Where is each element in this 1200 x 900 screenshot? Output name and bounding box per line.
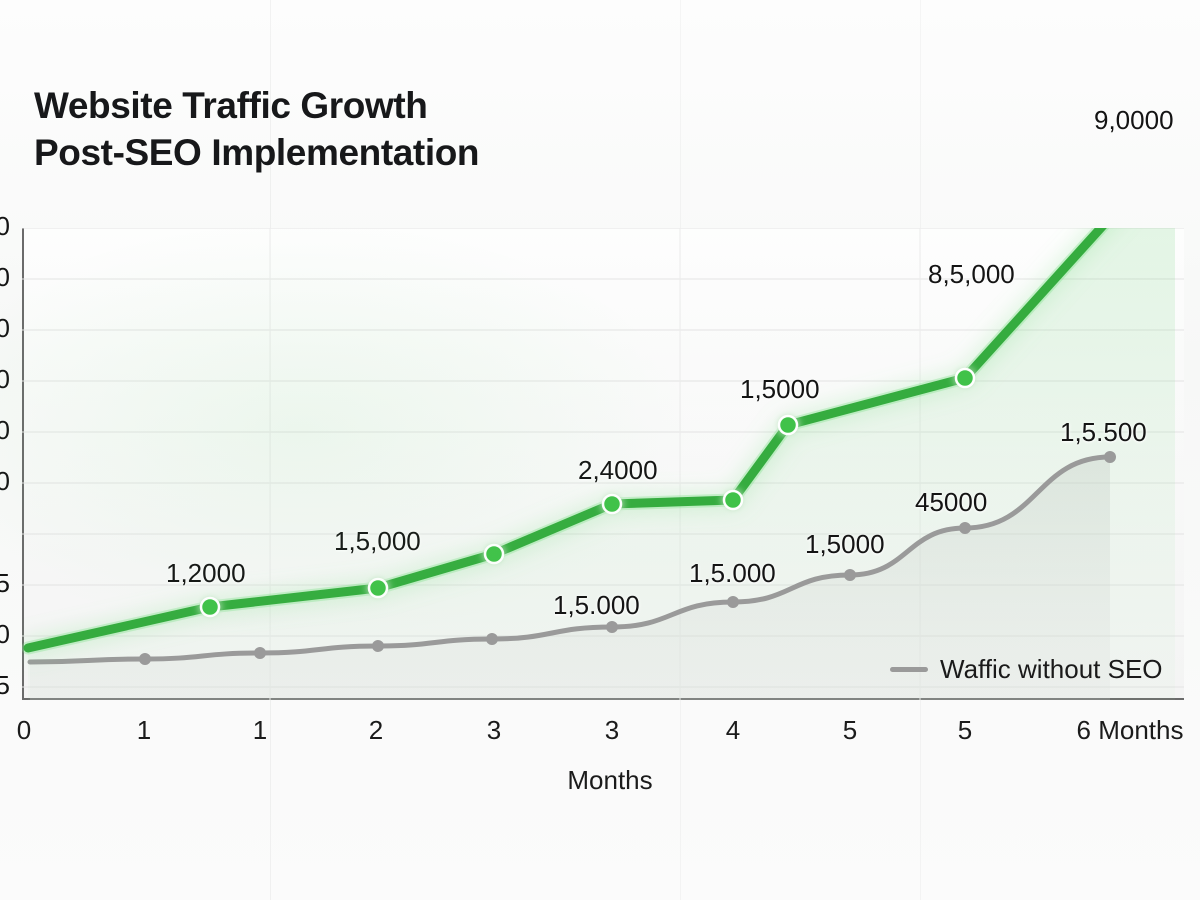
chart-canvas: Website Traffic Growth Post-SEO Implemen… xyxy=(0,0,1200,900)
y-tick-label: 0 xyxy=(0,619,10,650)
x-tick-label: 6 Months xyxy=(1070,715,1190,746)
x-tick-label: 3 xyxy=(434,715,554,746)
data-point-marker[interactable] xyxy=(485,545,503,563)
data-point-marker[interactable] xyxy=(201,598,219,616)
chart-title-line-2: Post-SEO Implementation xyxy=(34,129,734,176)
y-tick-label: 0 xyxy=(0,466,10,497)
y-tick-label: 5 xyxy=(0,568,10,599)
legend-line-swatch-icon xyxy=(890,667,928,672)
data-point-marker[interactable] xyxy=(724,491,742,509)
data-point-marker[interactable] xyxy=(727,596,739,608)
data-point-marker[interactable] xyxy=(486,633,498,645)
x-tick-label: 1 xyxy=(84,715,204,746)
data-point-label: 8,5,000 xyxy=(928,259,1015,290)
data-point-marker[interactable] xyxy=(606,621,618,633)
chart-legend[interactable]: Waffic without SEO xyxy=(890,654,1163,685)
data-point-label: 45000 xyxy=(915,487,987,518)
data-point-label: 1,5000 xyxy=(740,374,820,405)
data-point-marker[interactable] xyxy=(369,579,387,597)
x-tick-label: 0 xyxy=(0,715,84,746)
legend-item-label: Waffic without SEO xyxy=(940,654,1163,685)
x-tick-label: 5 xyxy=(790,715,910,746)
x-tick-label: 4 xyxy=(673,715,793,746)
data-point-marker[interactable] xyxy=(844,569,856,581)
data-point-label: 1,2000 xyxy=(166,558,246,589)
data-point-marker[interactable] xyxy=(254,647,266,659)
y-tick-label: 0 xyxy=(0,415,10,446)
data-point-label: 1,5,000 xyxy=(334,526,421,557)
y-tick-label: 5 xyxy=(0,670,10,701)
data-point-label: 2,4000 xyxy=(578,455,658,486)
y-tick-label: 0 xyxy=(0,313,10,344)
data-point-marker[interactable] xyxy=(1104,451,1116,463)
x-tick-label: 1 xyxy=(200,715,320,746)
x-tick-label: 2 xyxy=(316,715,436,746)
x-axis-title: Months xyxy=(500,765,720,796)
y-tick-label: 0 xyxy=(0,211,10,242)
chart-title-line-1: Website Traffic Growth xyxy=(34,85,427,126)
x-tick-label: 5 xyxy=(905,715,1025,746)
data-point-label: 9,0000 xyxy=(1094,105,1174,136)
data-point-label: 1,5000 xyxy=(805,529,885,560)
x-tick-label: 3 xyxy=(552,715,672,746)
data-point-marker[interactable] xyxy=(603,495,621,513)
data-point-label: 1,5.000 xyxy=(689,558,776,589)
data-point-label: 1,5.000 xyxy=(553,590,640,621)
data-point-marker[interactable] xyxy=(779,416,797,434)
data-point-marker[interactable] xyxy=(959,522,971,534)
data-point-label: 1,5.500 xyxy=(1060,417,1147,448)
chart-title: Website Traffic Growth Post-SEO Implemen… xyxy=(34,82,734,177)
data-point-marker[interactable] xyxy=(139,653,151,665)
y-tick-label: 0 xyxy=(0,364,10,395)
y-tick-label: 0 xyxy=(0,262,10,293)
data-point-marker[interactable] xyxy=(372,640,384,652)
data-point-marker[interactable] xyxy=(956,369,974,387)
